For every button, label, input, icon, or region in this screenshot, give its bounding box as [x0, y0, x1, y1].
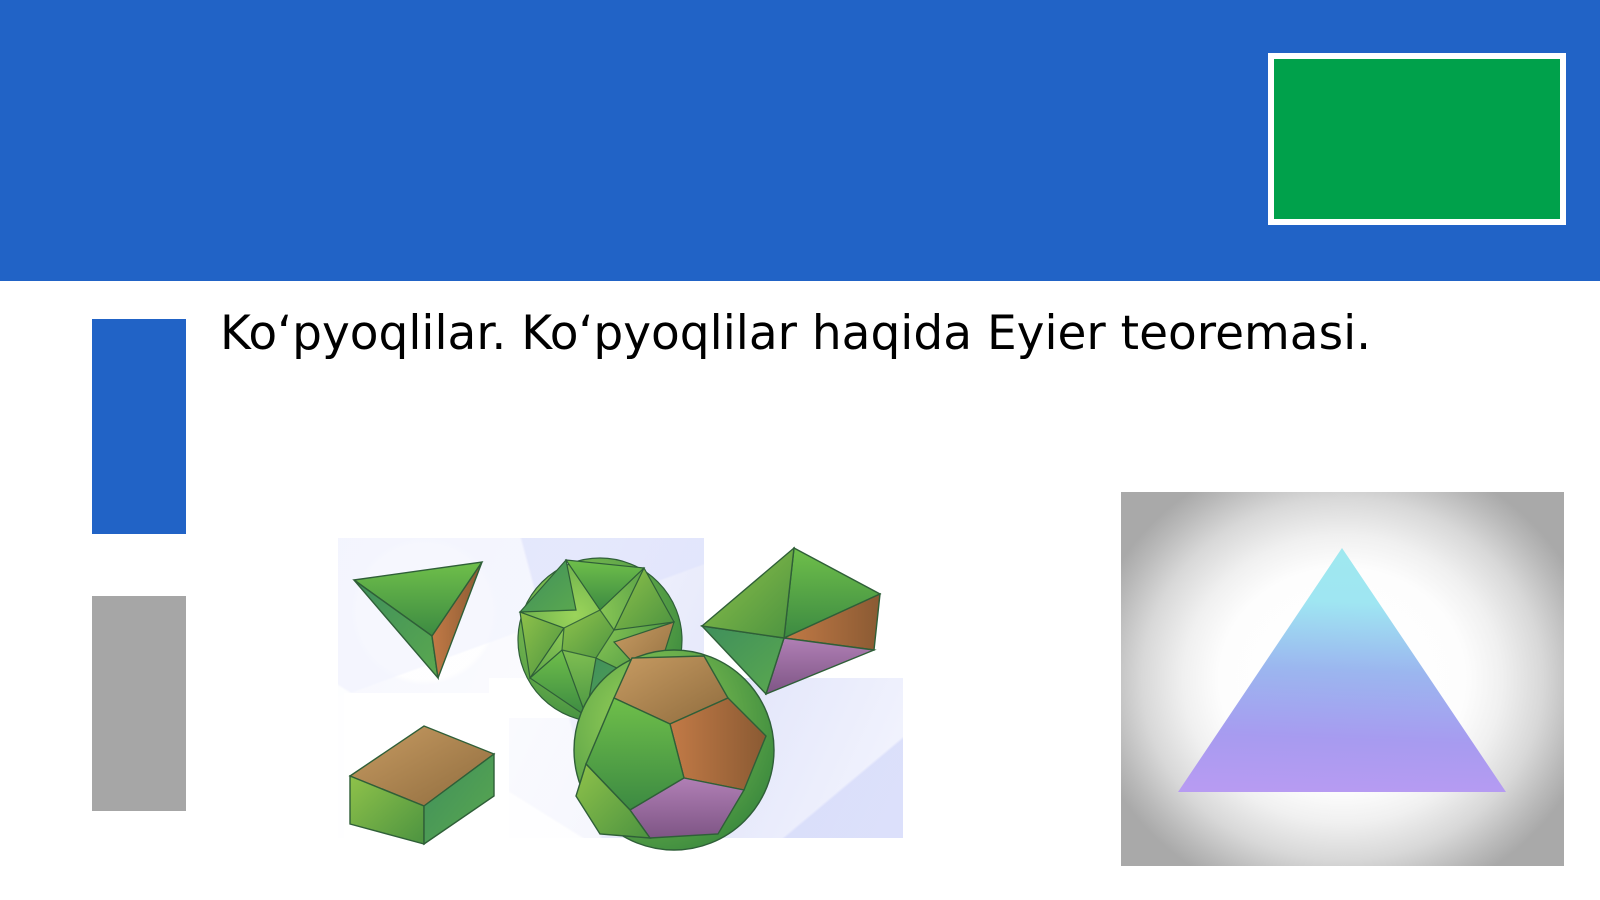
slide: Koʻpyoqlilar. Koʻpyoqlilar haqida Eyier … — [0, 0, 1600, 900]
polyhedra-shapes — [314, 538, 927, 872]
header-badge-fill — [1274, 59, 1560, 219]
pyramid-shape — [1121, 492, 1564, 866]
title-text: Koʻpyoqlilar. Koʻpyoqlilar haqida Eyier … — [205, 296, 1385, 371]
accent-bar-blue — [92, 319, 186, 534]
pyramid-image — [1121, 492, 1564, 866]
polyhedra-collage-image — [314, 538, 927, 872]
page-title: Koʻpyoqlilar. Koʻpyoqlilar haqida Eyier … — [205, 296, 1385, 371]
accent-bar-gray — [92, 596, 186, 811]
